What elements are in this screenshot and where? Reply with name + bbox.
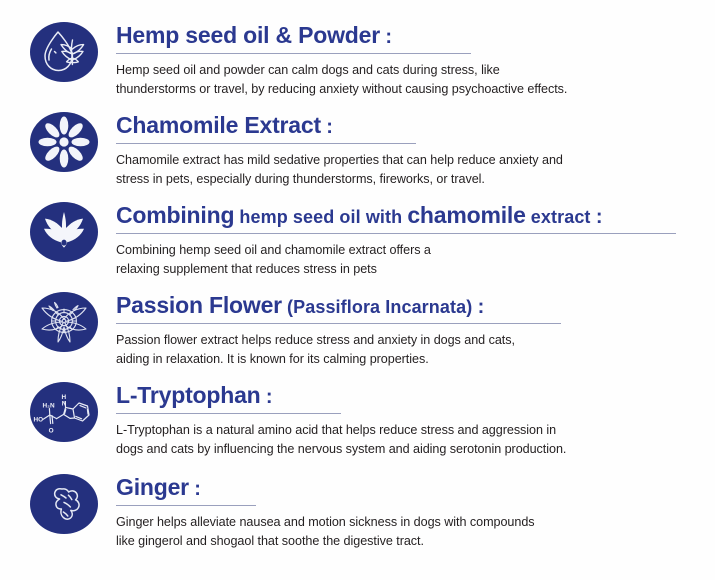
ingredient-description: Passion flower extract helps reduce stre… bbox=[116, 331, 715, 368]
ingredient-content: Ginger :Ginger helps alleviate nausea an… bbox=[98, 474, 715, 551]
molecule-label-hydroxyl: HO bbox=[34, 417, 44, 424]
icon-badge bbox=[30, 474, 98, 534]
molecule-label-amine: H₂N bbox=[43, 403, 55, 410]
ingredient-row: H N H₂N HO O L-Tryptophan :L-Tryptophan … bbox=[0, 382, 715, 459]
heading-part: : bbox=[472, 296, 484, 318]
heading-underline bbox=[116, 53, 471, 54]
heading-underline bbox=[116, 143, 416, 144]
tryptophan-molecule-icon: H N H₂N HO O bbox=[32, 387, 96, 437]
ingredient-content: Combining hemp seed oil with chamomile e… bbox=[98, 202, 715, 279]
heading-part: (Passiflora Incarnata) bbox=[282, 297, 472, 317]
heading-part: Ginger bbox=[116, 474, 189, 500]
heading-part: hemp seed oil with bbox=[234, 207, 407, 227]
hemp-droplet-leaf-icon bbox=[36, 27, 92, 77]
heading-underline bbox=[116, 505, 256, 506]
ingredient-row: Hemp seed oil & Powder :Hemp seed oil an… bbox=[0, 22, 715, 99]
heading-part: : bbox=[591, 206, 603, 228]
ingredient-row: Chamomile Extract :Chamomile extract has… bbox=[0, 112, 715, 189]
ingredient-description: Chamomile extract has mild sedative prop… bbox=[116, 151, 715, 188]
heading-part: : bbox=[380, 26, 392, 48]
heading-underline bbox=[116, 323, 561, 324]
heading-part: Combining bbox=[116, 202, 234, 228]
heading-part: Chamomile Extract bbox=[116, 112, 321, 138]
ingredient-row: Combining hemp seed oil with chamomile e… bbox=[0, 202, 715, 279]
ingredient-heading: L-Tryptophan : bbox=[116, 384, 715, 407]
ingredient-row: Ginger :Ginger helps alleviate nausea an… bbox=[0, 474, 715, 551]
icon-badge: H N H₂N HO O bbox=[30, 382, 98, 442]
heading-underline bbox=[116, 233, 676, 234]
heading-part: Passion Flower bbox=[116, 292, 282, 318]
ingredient-heading: Chamomile Extract : bbox=[116, 114, 715, 137]
heading-part: : bbox=[321, 116, 333, 138]
ingredient-description: L-Tryptophan is a natural amino acid tha… bbox=[116, 421, 715, 458]
icon-badge bbox=[30, 22, 98, 82]
ingredient-heading: Combining hemp seed oil with chamomile e… bbox=[116, 204, 715, 227]
heading-part: L-Tryptophan bbox=[116, 382, 261, 408]
icon-badge bbox=[30, 202, 98, 262]
ingredient-heading: Ginger : bbox=[116, 476, 715, 499]
ingredient-content: Hemp seed oil & Powder :Hemp seed oil an… bbox=[98, 22, 715, 99]
heading-part: : bbox=[189, 478, 201, 500]
icon-badge bbox=[30, 112, 98, 172]
heading-part: : bbox=[261, 386, 273, 408]
heading-underline bbox=[116, 413, 341, 414]
ingredient-row: Passion Flower (Passiflora Incarnata) :P… bbox=[0, 292, 715, 369]
heading-part: Hemp seed oil & Powder bbox=[116, 22, 380, 48]
ingredient-description: Ginger helps alleviate nausea and motion… bbox=[116, 513, 715, 550]
ingredient-description: Hemp seed oil and powder can calm dogs a… bbox=[116, 61, 715, 98]
chamomile-flower-icon bbox=[38, 116, 90, 168]
ingredient-heading: Hemp seed oil & Powder : bbox=[116, 24, 715, 47]
ingredient-content: L-Tryptophan :L-Tryptophan is a natural … bbox=[98, 382, 715, 459]
heading-part: extract bbox=[526, 207, 591, 227]
heading-part: chamomile bbox=[407, 202, 525, 228]
hemp-leaf-solid-icon bbox=[37, 209, 91, 255]
molecule-label-carbonyl: O bbox=[49, 427, 54, 434]
ingredient-content: Chamomile Extract :Chamomile extract has… bbox=[98, 112, 715, 189]
ingredient-heading: Passion Flower (Passiflora Incarnata) : bbox=[116, 294, 715, 317]
molecule-label-indole-n: N bbox=[62, 400, 67, 407]
ingredient-content: Passion Flower (Passiflora Incarnata) :P… bbox=[98, 292, 715, 369]
infographic-sheet: Hemp seed oil & Powder :Hemp seed oil an… bbox=[0, 0, 715, 580]
ginger-root-icon bbox=[38, 480, 90, 528]
icon-badge bbox=[30, 292, 98, 352]
passion-flower-icon bbox=[35, 297, 93, 347]
ingredient-description: Combining hemp seed oil and chamomile ex… bbox=[116, 241, 715, 278]
